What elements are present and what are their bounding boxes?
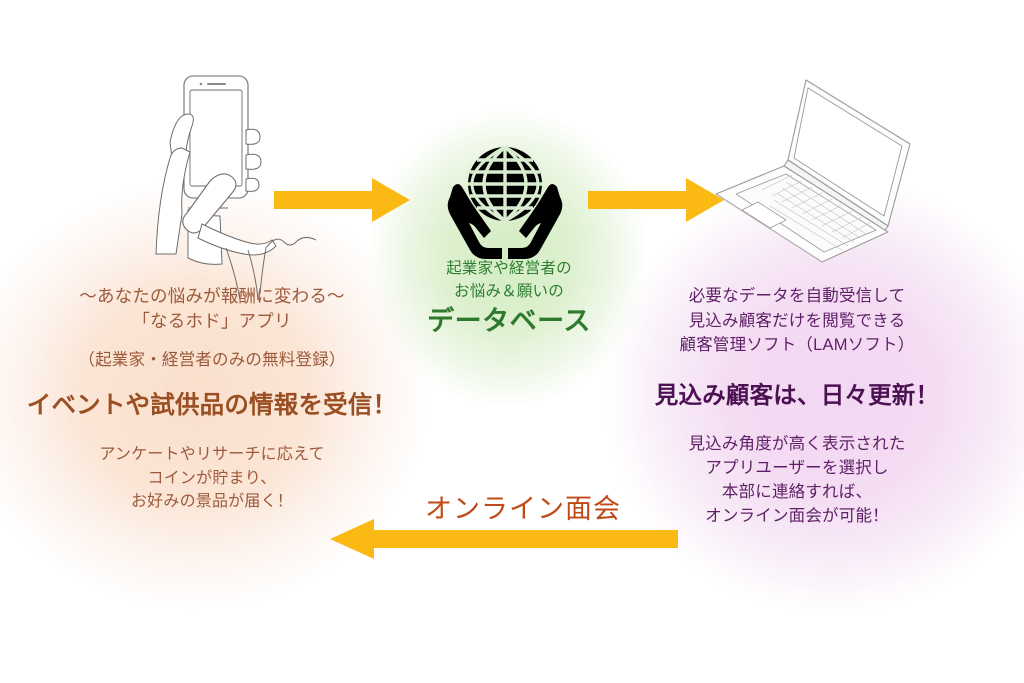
online-meeting-label: オンライン面会 bbox=[398, 487, 648, 526]
center-lead-line1: 起業家や経営者の bbox=[378, 258, 640, 281]
center-lead-line2: お悩み＆願いの bbox=[378, 281, 640, 304]
right-lead-line1: 必要なデータを自動受信して bbox=[622, 284, 972, 309]
left-detail: アンケートやリサーチに応えて コインが貯まり、 お好みの景品が届く！ bbox=[12, 443, 412, 514]
arrow-right-icon bbox=[588, 176, 724, 224]
left-detail-line3: お好みの景品が届く！ bbox=[12, 490, 412, 514]
right-node-text: 必要なデータを自動受信して 見込み顧客だけを閲覧できる 顧客管理ソフト（LAMソ… bbox=[622, 284, 972, 528]
right-detail-line4: オンライン面会が可能！ bbox=[622, 504, 972, 528]
left-detail-line1: アンケートやリサーチに応えて bbox=[12, 443, 412, 467]
left-detail-line2: コインが貯まり、 bbox=[12, 467, 412, 491]
right-detail-line2: アプリユーザーを選択し bbox=[622, 456, 972, 480]
left-node-text: ～あなたの悩みが報酬に変わる～ 「なるホド」アプリ （起業家・経営者のみの無料登… bbox=[12, 284, 412, 514]
center-headline: データベース bbox=[378, 305, 640, 337]
left-lead-line2: 「なるホド」アプリ bbox=[12, 309, 412, 334]
right-detail: 見込み角度が高く表示された アプリユーザーを選択し 本部に連絡すれば、 オンライ… bbox=[622, 432, 972, 528]
left-lead-line1: ～あなたの悩みが報酬に変わる～ bbox=[12, 284, 412, 309]
right-detail-line3: 本部に連絡すれば、 bbox=[622, 480, 972, 504]
right-headline: 見込み顧客は、日々更新！ bbox=[622, 380, 972, 410]
right-lead-line2: 見込み顧客だけを閲覧できる bbox=[622, 309, 972, 334]
left-subtitle: （起業家・経営者のみの無料登録） bbox=[12, 348, 412, 373]
globe-in-hands-icon bbox=[444, 142, 566, 260]
center-node-text: 起業家や経営者の お悩み＆願いの データベース bbox=[378, 258, 640, 337]
right-detail-line1: 見込み角度が高く表示された bbox=[622, 432, 972, 456]
right-lead-line3: 顧客管理ソフト（LAMソフト） bbox=[622, 333, 972, 358]
arrow-right-icon bbox=[274, 176, 410, 224]
left-headline: イベントや試供品の情報を受信！ bbox=[12, 391, 412, 421]
laptop-illustration bbox=[700, 72, 916, 268]
diagram-canvas: ～あなたの悩みが報酬に変わる～ 「なるホド」アプリ （起業家・経営者のみの無料登… bbox=[0, 0, 1024, 683]
